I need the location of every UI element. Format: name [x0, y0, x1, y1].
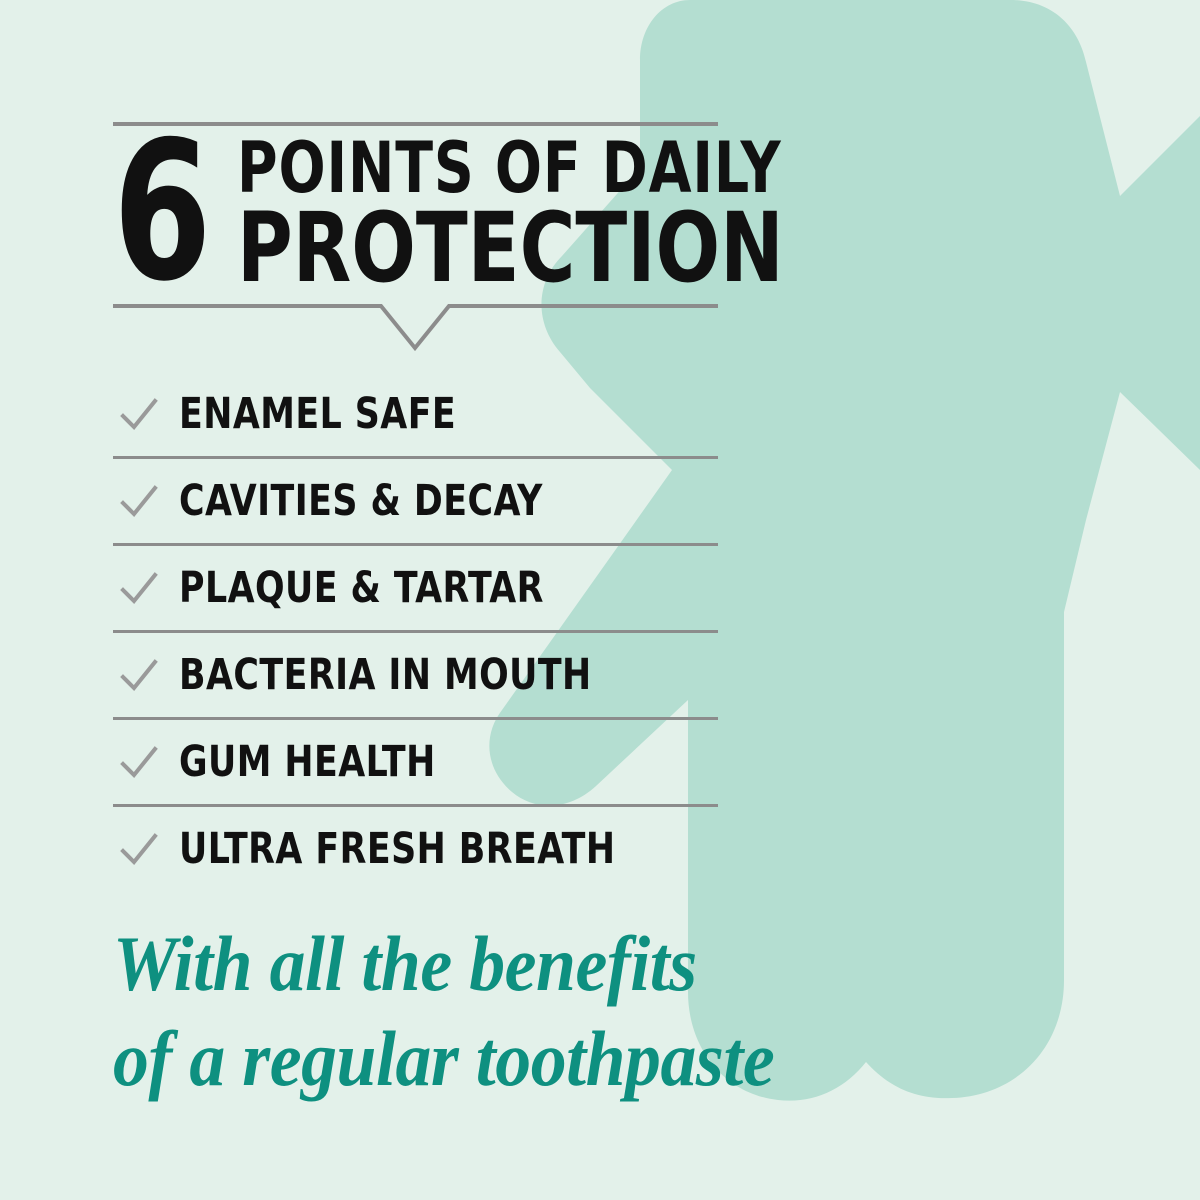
- list-item-label: BACTERIA IN MOUTH: [179, 650, 592, 700]
- points-count: 6: [113, 140, 210, 286]
- list-item-label: CAVITIES & DECAY: [179, 476, 543, 526]
- content-column: 6 POINTS OF DAILY PROTECTION ENAMEL SAFE: [113, 0, 718, 1200]
- benefits-list: ENAMEL SAFE CAVITIES & DECAY PLAQUE & TA…: [113, 372, 718, 891]
- check-icon: [117, 392, 161, 436]
- check-icon: [117, 827, 161, 871]
- list-item-label: ULTRA FRESH BREATH: [179, 824, 615, 874]
- list-item: ULTRA FRESH BREATH: [113, 807, 718, 891]
- headline-line-primary: POINTS OF DAILY: [237, 136, 784, 200]
- tagline-line-1: With all the benefits: [113, 916, 774, 1011]
- list-item-label: ENAMEL SAFE: [179, 389, 456, 439]
- list-item: GUM HEALTH: [113, 720, 718, 804]
- check-icon: [117, 479, 161, 523]
- check-icon: [117, 740, 161, 784]
- headline-line-secondary: PROTECTION: [237, 202, 784, 294]
- check-icon: [117, 566, 161, 610]
- list-item: BACTERIA IN MOUTH: [113, 633, 718, 717]
- page-title: 6 POINTS OF DAILY PROTECTION: [113, 136, 858, 295]
- list-item: ENAMEL SAFE: [113, 372, 718, 456]
- tagline: With all the benefits of a regular tooth…: [113, 916, 774, 1106]
- header-rule-notched: [113, 302, 718, 358]
- headline-lines: POINTS OF DAILY PROTECTION: [237, 136, 858, 295]
- tagline-line-2: of a regular toothpaste: [113, 1011, 774, 1106]
- list-item: PLAQUE & TARTAR: [113, 546, 718, 630]
- check-icon: [117, 653, 161, 697]
- list-item-label: PLAQUE & TARTAR: [179, 563, 544, 613]
- product-benefits-poster: 6 POINTS OF DAILY PROTECTION ENAMEL SAFE: [0, 0, 1200, 1200]
- list-item: CAVITIES & DECAY: [113, 459, 718, 543]
- list-item-label: GUM HEALTH: [179, 737, 436, 787]
